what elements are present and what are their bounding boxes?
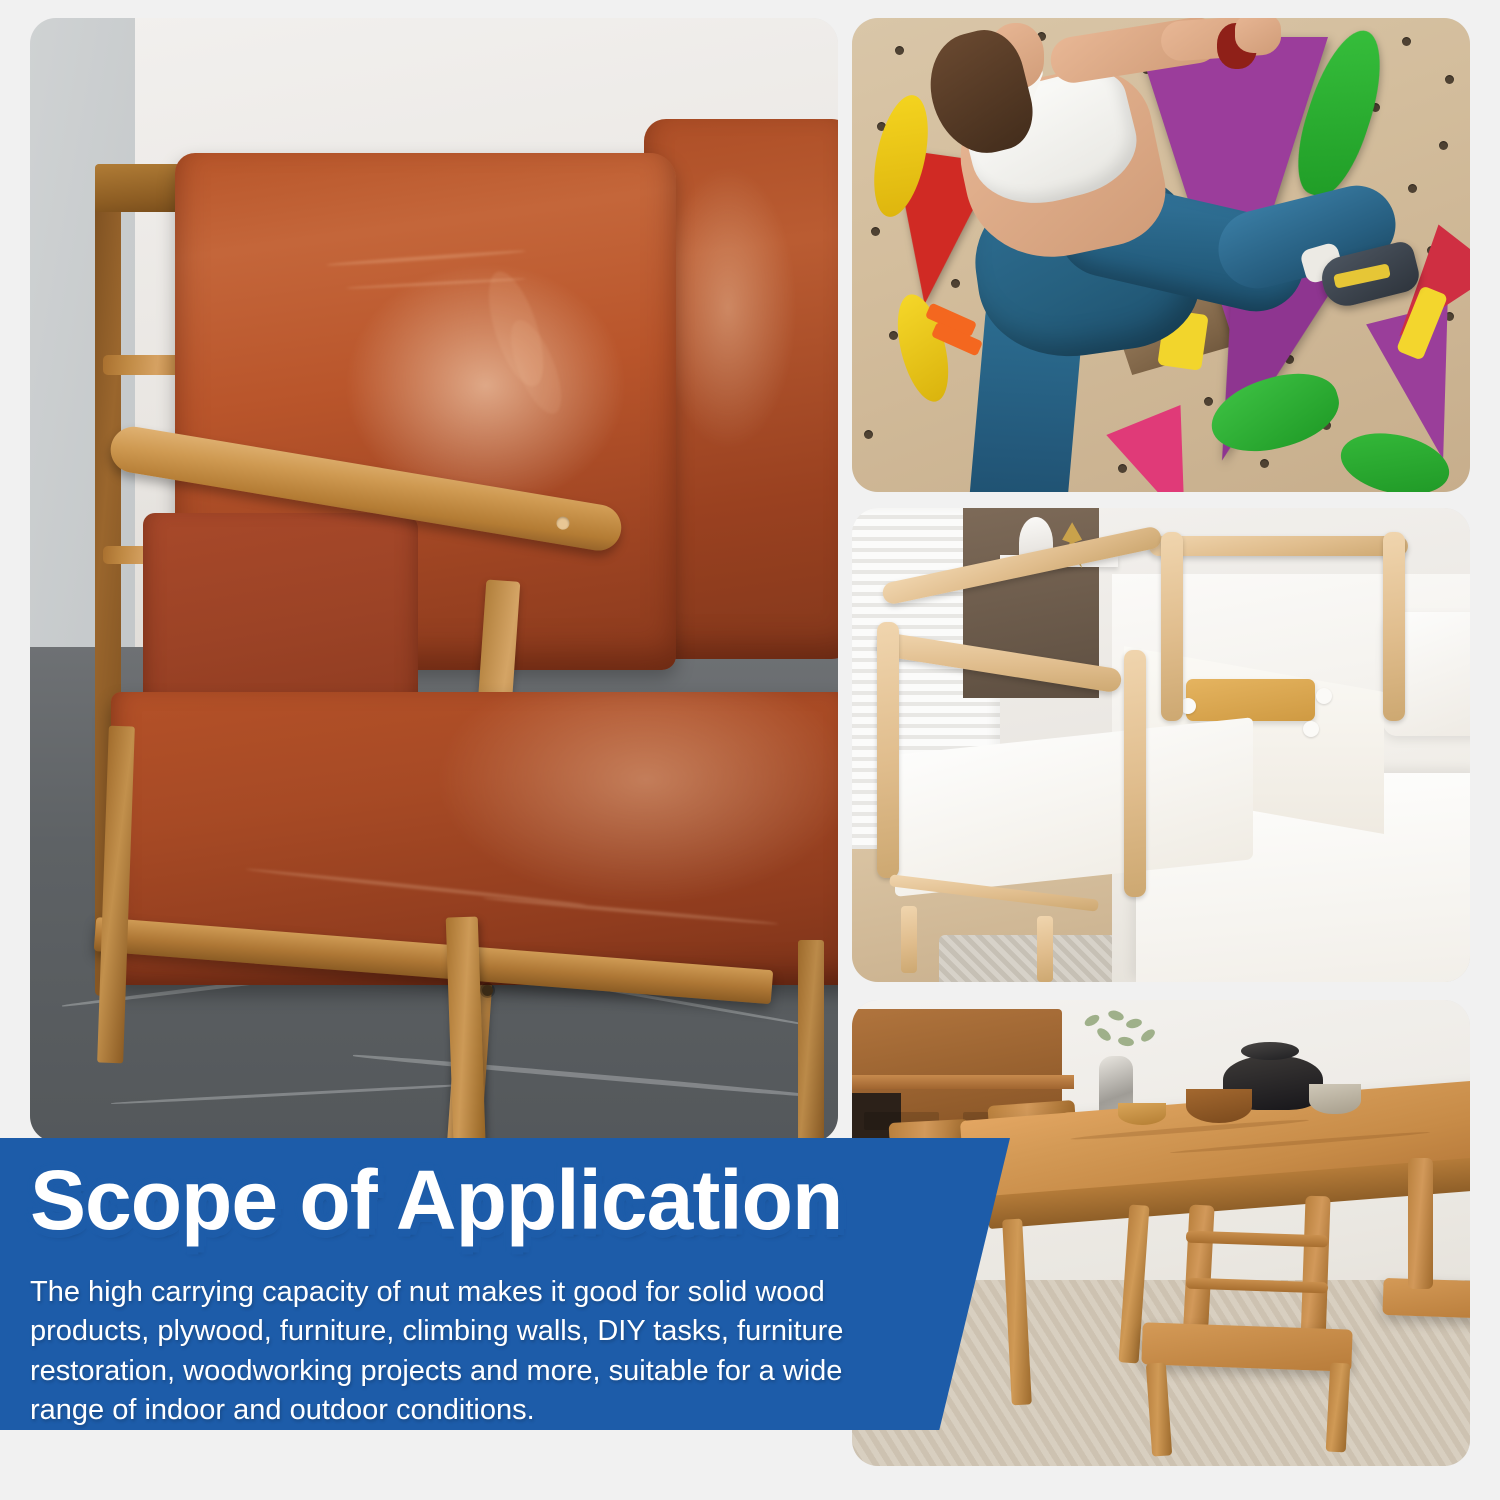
scope-of-application-banner xyxy=(0,1138,1010,1430)
climber-figure xyxy=(852,18,1470,492)
crib-leg xyxy=(901,906,917,972)
sideboard-top xyxy=(852,1075,1074,1089)
infographic-canvas: Scope of Application The high carrying c… xyxy=(0,0,1500,1500)
second-chair-post xyxy=(1408,1158,1433,1288)
wood-grain xyxy=(1070,1118,1309,1142)
pot-lid-knob xyxy=(1241,1042,1299,1060)
sofa-scene xyxy=(30,18,838,1142)
leather-crease xyxy=(326,249,526,267)
wood-grain xyxy=(1170,1130,1431,1154)
leaf xyxy=(1118,1036,1135,1048)
foreground-chair-seat xyxy=(1142,1323,1353,1372)
leaf xyxy=(1139,1027,1157,1044)
crib-top-rail-back xyxy=(1149,536,1409,556)
armrest-dowel-plug xyxy=(556,516,571,531)
crib-corner-post xyxy=(1161,532,1183,722)
climbing-scene xyxy=(852,18,1470,492)
leaf xyxy=(1107,1009,1125,1023)
crib-corner-post xyxy=(877,622,899,878)
crib-corner-post xyxy=(1124,650,1146,896)
floor-vein xyxy=(353,1053,820,1099)
cushion-pom xyxy=(1316,688,1332,704)
climber-hand xyxy=(1235,18,1281,53)
leather-crease xyxy=(483,896,780,926)
floor-vein xyxy=(111,1083,482,1105)
ceramic-cup xyxy=(1309,1084,1361,1114)
snack-bowl xyxy=(1118,1103,1166,1125)
climbing-wall-photo xyxy=(852,18,1470,492)
wooden-bowl xyxy=(1186,1089,1252,1123)
sofa-right-leg xyxy=(798,940,824,1142)
crib-leg xyxy=(1037,916,1053,982)
leaf xyxy=(1083,1012,1101,1028)
yellow-cushion xyxy=(1186,679,1316,722)
crib-scene xyxy=(852,508,1470,982)
baby-crib-photo xyxy=(852,508,1470,982)
leaf xyxy=(1095,1025,1113,1042)
crib-corner-post xyxy=(1383,532,1405,722)
leaf xyxy=(1126,1017,1144,1029)
leather-sofa-photo xyxy=(30,18,838,1142)
